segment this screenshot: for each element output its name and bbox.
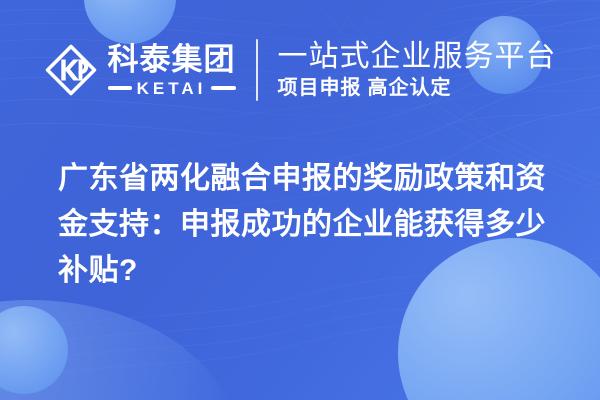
tagline-sub: 项目申报 高企认定 [278,77,557,99]
logo-rule-left [108,86,132,90]
ketai-diamond-kp-logo-icon [44,43,98,97]
tagline-main: 一站式企业服务平台 [278,41,557,73]
logo-chinese-name: 科泰集团 [108,44,236,75]
promo-banner: 科泰集团 KETAI 一站式企业服务平台 项目申报 高企认定 广东省两化融合申报… [0,0,600,400]
title-block: 广东省两化融合申报的奖励政策和资金支持：申报成功的企业能获得多少补贴? [58,156,563,294]
logo-rule-right [211,86,235,90]
brand-logo[interactable]: 科泰集团 KETAI [44,43,236,97]
logo-english-row: KETAI [108,80,236,97]
logo-wordmark: 科泰集团 KETAI [108,44,236,97]
logo-english-name: KETAI [137,80,207,97]
page-title: 广东省两化融合申报的奖励政策和资金支持：申报成功的企业能获得多少补贴? [58,156,563,294]
tagline-block: 一站式企业服务平台 项目申报 高企认定 [278,41,557,99]
banner-header: 科泰集团 KETAI 一站式企业服务平台 项目申报 高企认定 [0,0,600,140]
glow-sweep [0,300,240,400]
circle-orb-icon [0,306,68,394]
vertical-divider-icon [256,39,258,101]
